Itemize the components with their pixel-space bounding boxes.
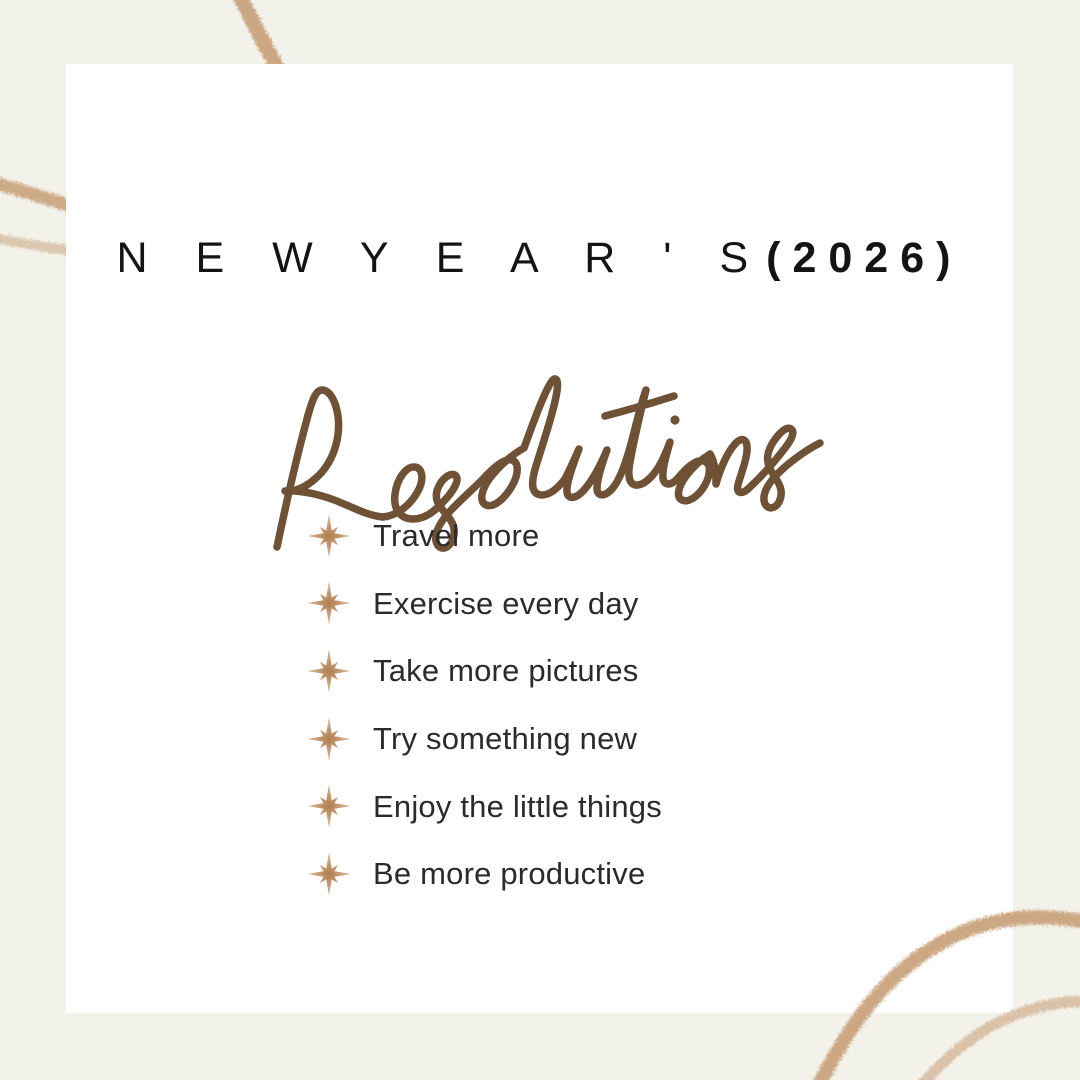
list-item[interactable]: Travel more [306,502,539,570]
list-item-label: Enjoy the little things [373,791,662,822]
sparkle-star-icon [306,648,352,694]
list-item[interactable]: Take more pictures [306,637,638,705]
resolutions-list: Travel more Exercise every day Take more… [66,502,1013,908]
sparkle-star-icon [306,716,352,762]
sparkle-star-icon [306,513,352,559]
list-item-label: Be more productive [373,858,645,889]
white-card: N E W Y E A R ' S(2026) [66,64,1013,1013]
poster-canvas: N E W Y E A R ' S(2026) [0,0,1080,1080]
sparkle-star-icon [306,783,352,829]
list-item-label: Take more pictures [373,655,638,686]
page-title: N E W Y E A R ' S(2026) [66,237,1013,280]
list-item-label: Try something new [373,723,637,754]
list-item[interactable]: Be more productive [306,840,645,908]
sparkle-star-icon [306,851,352,897]
list-item-label: Travel more [373,520,539,551]
sparkle-star-icon [306,580,352,626]
headline-main: N E W Y E A R ' S [117,234,767,282]
list-item-label: Exercise every day [373,588,638,619]
headline-year: (2026) [766,234,962,282]
list-item[interactable]: Try something new [306,705,637,773]
list-item[interactable]: Exercise every day [306,570,638,638]
list-item[interactable]: Enjoy the little things [306,772,662,840]
